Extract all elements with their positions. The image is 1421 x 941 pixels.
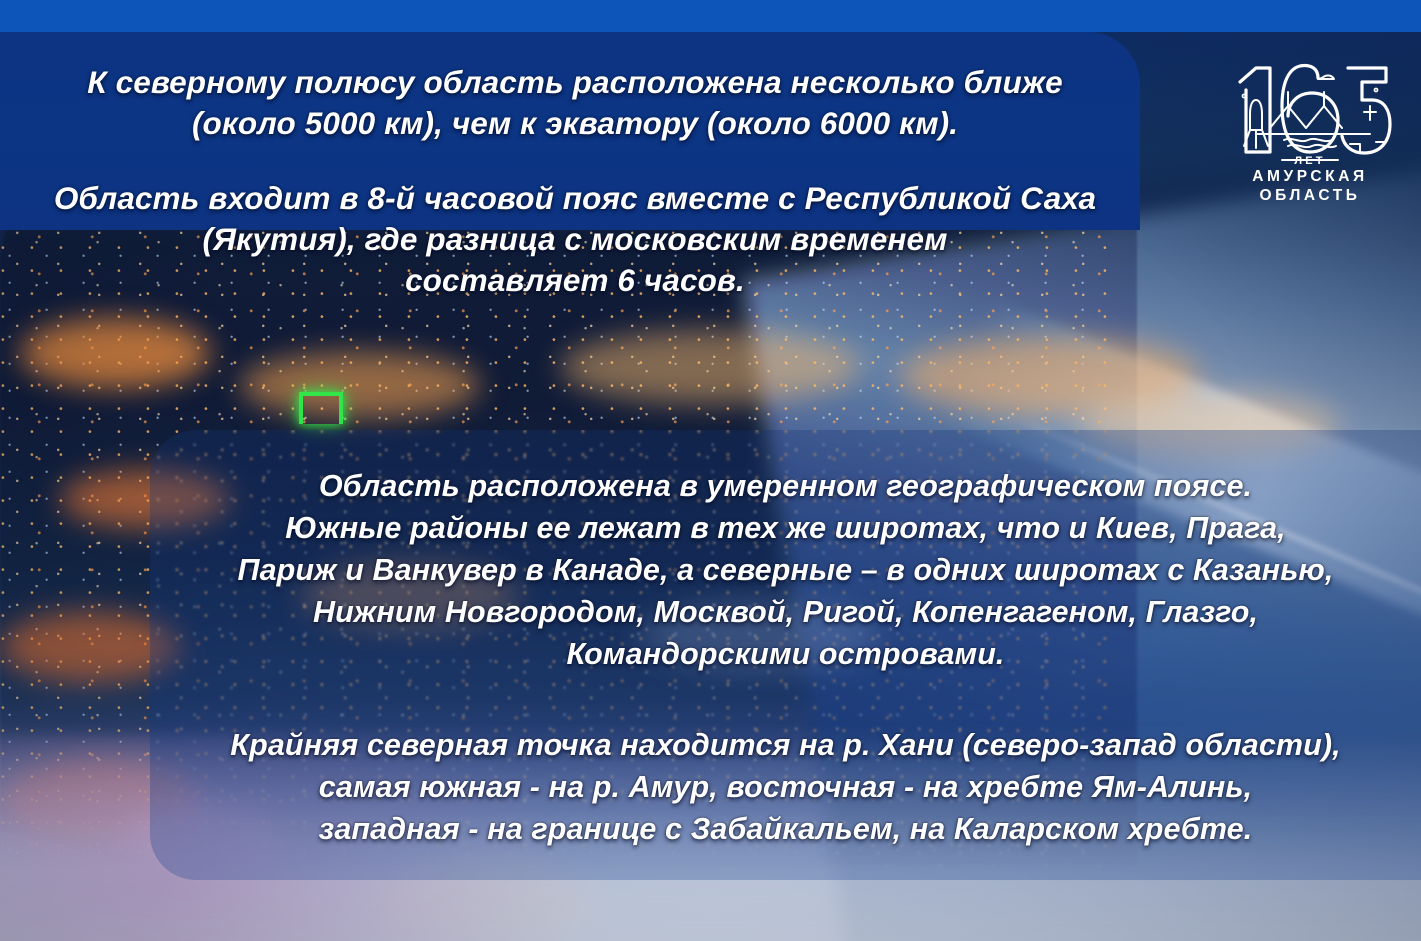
text-block-latitudes: Область расположена в умеренном географи… — [150, 465, 1421, 675]
presentation-slide: К северному полюсу область расположена н… — [0, 0, 1421, 941]
top-color-band — [0, 0, 1421, 32]
logo-165-mark: ЛЕТ — [1226, 56, 1394, 168]
logo-years-label: ЛЕТ — [1294, 155, 1325, 167]
text-block-extreme-points: Крайняя северная точка находится на р. Х… — [150, 724, 1421, 850]
anniversary-logo: ЛЕТ АМУРСКАЯ ОБЛАСТЬ — [1226, 56, 1394, 216]
text-block-polar-distance: К северному полюсу область расположена н… — [30, 62, 1120, 144]
text-block-timezone: Область входит в 8-й часовой пояс вместе… — [30, 178, 1120, 301]
logo-region-line-2: ОБЛАСТЬ — [1226, 187, 1394, 206]
logo-region-line-1: АМУРСКАЯ — [1226, 168, 1394, 187]
